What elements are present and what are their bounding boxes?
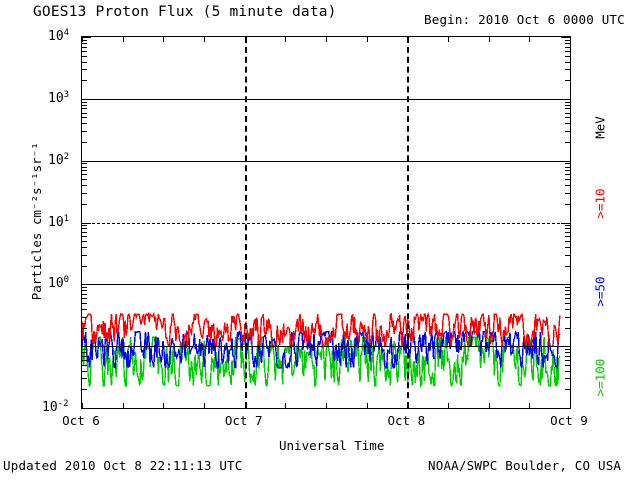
y-axis-tick bbox=[565, 47, 570, 48]
y-axis-tick bbox=[565, 303, 570, 304]
y-axis-tick bbox=[82, 287, 87, 288]
y-axis-tick bbox=[82, 204, 87, 205]
y-axis-tick bbox=[82, 294, 87, 295]
y-axis-tick bbox=[565, 167, 570, 168]
y-axis-tick bbox=[565, 352, 570, 353]
y-axis-tick bbox=[561, 99, 570, 100]
y-axis-tick bbox=[565, 356, 570, 357]
y-axis-tick bbox=[82, 113, 87, 114]
y-axis-tick bbox=[82, 142, 87, 143]
x-tick-label: Oct 7 bbox=[225, 415, 263, 428]
y-axis-tick bbox=[565, 174, 570, 175]
y-axis-tick bbox=[565, 142, 570, 143]
y-axis-tick bbox=[565, 290, 570, 291]
gridline-solid bbox=[82, 346, 570, 347]
y-axis-tick bbox=[561, 408, 570, 409]
y-axis-tick bbox=[561, 346, 570, 347]
x-axis-tick bbox=[163, 37, 164, 42]
updated-timestamp: Updated 2010 Oct 8 22:11:13 UTC bbox=[3, 460, 243, 473]
y-axis-tick bbox=[82, 225, 87, 226]
y-axis-tick bbox=[561, 161, 570, 162]
y-axis-tick bbox=[565, 298, 570, 299]
y-axis-tick bbox=[82, 43, 87, 44]
y-axis-tick bbox=[82, 408, 91, 409]
y-axis-tick bbox=[565, 163, 570, 164]
y-axis-tick bbox=[82, 170, 87, 171]
y-axis-tick bbox=[565, 105, 570, 106]
y-axis-tick bbox=[82, 69, 87, 70]
x-axis-tick bbox=[285, 37, 286, 42]
y-axis-tick bbox=[565, 69, 570, 70]
y-axis-tick bbox=[565, 349, 570, 350]
y-axis-tick bbox=[565, 365, 570, 366]
y-axis-tick bbox=[565, 241, 570, 242]
x-axis-tick bbox=[367, 403, 368, 408]
x-axis-tick bbox=[326, 37, 327, 42]
y-axis-tick bbox=[565, 232, 570, 233]
x-axis-label: Universal Time bbox=[279, 440, 384, 453]
x-tick-label: Oct 8 bbox=[388, 415, 426, 428]
y-axis-tick bbox=[82, 51, 87, 52]
y-axis-tick bbox=[565, 43, 570, 44]
x-tick-label: Oct 6 bbox=[62, 415, 100, 428]
y-axis-tick bbox=[565, 309, 570, 310]
y-axis-tick bbox=[565, 56, 570, 57]
y-axis-tick bbox=[82, 378, 87, 379]
x-axis-tick bbox=[204, 37, 205, 42]
y-axis-tick bbox=[82, 161, 91, 162]
y-axis-tick bbox=[565, 204, 570, 205]
x-axis-tick bbox=[82, 37, 83, 42]
x-axis-tick bbox=[448, 403, 449, 408]
legend-item-100mev: >=100 bbox=[593, 338, 608, 418]
x-axis-tick bbox=[204, 403, 205, 408]
y-axis-tick bbox=[82, 360, 87, 361]
y-axis-tick bbox=[82, 236, 87, 237]
y-axis-tick bbox=[82, 232, 87, 233]
y-axis-tick bbox=[565, 255, 570, 256]
y-axis-tick bbox=[565, 108, 570, 109]
y-axis-tick bbox=[82, 317, 87, 318]
y-axis-tick bbox=[82, 223, 91, 224]
y-axis-tick bbox=[82, 328, 87, 329]
y-axis-tick bbox=[82, 47, 87, 48]
y-axis-tick bbox=[565, 228, 570, 229]
y-axis-label: Particles cm⁻²s⁻¹sr⁻¹ bbox=[31, 121, 44, 321]
y-axis-tick bbox=[82, 108, 87, 109]
y-axis-tick bbox=[82, 255, 87, 256]
x-axis-tick bbox=[448, 37, 449, 42]
x-axis-tick bbox=[529, 37, 530, 42]
y-axis-tick bbox=[82, 174, 87, 175]
plot-area bbox=[81, 36, 571, 409]
x-axis-tick bbox=[326, 403, 327, 408]
y-axis-tick bbox=[565, 287, 570, 288]
y-axis-tick bbox=[82, 105, 87, 106]
y-axis-tick bbox=[82, 389, 87, 390]
y-axis-tick bbox=[82, 303, 87, 304]
y-axis-tick bbox=[82, 241, 87, 242]
x-tick-label: Oct 9 bbox=[550, 415, 588, 428]
y-axis-tick bbox=[82, 228, 87, 229]
y-axis-tick bbox=[565, 378, 570, 379]
y-axis-tick bbox=[82, 365, 87, 366]
gridline-solid bbox=[82, 284, 570, 285]
y-axis-tick bbox=[82, 99, 91, 100]
legend-unit-label: MeV bbox=[593, 88, 608, 168]
y-axis-tick bbox=[82, 371, 87, 372]
begin-time-label: Begin: 2010 Oct 6 0000 UTC bbox=[424, 14, 625, 27]
source-label: NOAA/SWPC Boulder, CO USA bbox=[428, 460, 621, 473]
y-axis-tick bbox=[565, 131, 570, 132]
y-axis-tick bbox=[82, 179, 87, 180]
x-axis-tick bbox=[123, 37, 124, 42]
x-axis-tick bbox=[570, 37, 571, 42]
y-axis-tick bbox=[565, 170, 570, 171]
y-axis-tick bbox=[82, 266, 87, 267]
y-axis-tick bbox=[561, 37, 570, 38]
x-axis-tick bbox=[489, 37, 490, 42]
y-axis-tick bbox=[82, 123, 87, 124]
y-axis-tick bbox=[82, 309, 87, 310]
y-axis-tick bbox=[565, 266, 570, 267]
x-axis-tick bbox=[245, 37, 246, 42]
y-axis-tick bbox=[565, 179, 570, 180]
y-axis-tick bbox=[82, 37, 91, 38]
y-axis-tick bbox=[82, 80, 87, 81]
y-axis-tick bbox=[561, 223, 570, 224]
day-boundary-line bbox=[407, 37, 409, 408]
y-axis-tick bbox=[565, 80, 570, 81]
y-axis-tick bbox=[565, 102, 570, 103]
y-axis-tick bbox=[82, 247, 87, 248]
x-axis-tick bbox=[489, 403, 490, 408]
gridline-solid bbox=[82, 161, 570, 162]
x-axis-tick bbox=[407, 403, 408, 408]
y-axis-tick bbox=[565, 294, 570, 295]
chart-title: GOES13 Proton Flux (5 minute data) bbox=[33, 5, 337, 20]
y-axis-tick bbox=[82, 102, 87, 103]
y-axis-tick bbox=[565, 328, 570, 329]
y-axis-tick bbox=[565, 51, 570, 52]
gridline-solid bbox=[82, 99, 570, 100]
x-axis-tick bbox=[529, 403, 530, 408]
y-axis-tick bbox=[82, 193, 87, 194]
y-axis-tick bbox=[565, 317, 570, 318]
x-axis-tick bbox=[123, 403, 124, 408]
y-axis-tick bbox=[82, 117, 87, 118]
y-axis-tick bbox=[565, 236, 570, 237]
y-axis-tick bbox=[82, 346, 91, 347]
y-axis-tick bbox=[565, 113, 570, 114]
x-axis-tick bbox=[570, 403, 571, 408]
y-axis-tick bbox=[565, 117, 570, 118]
y-axis-tick bbox=[82, 349, 87, 350]
y-axis-tick bbox=[82, 62, 87, 63]
x-axis-tick bbox=[82, 403, 83, 408]
y-axis-tick bbox=[565, 371, 570, 372]
y-axis-tick bbox=[82, 284, 91, 285]
y-axis-tick bbox=[565, 247, 570, 248]
x-axis-tick bbox=[367, 37, 368, 42]
x-axis-tick bbox=[407, 37, 408, 42]
day-boundary-line bbox=[245, 37, 247, 408]
x-axis-tick bbox=[163, 403, 164, 408]
y-axis-tick bbox=[82, 163, 87, 164]
y-axis-tick bbox=[565, 62, 570, 63]
y-axis-tick bbox=[565, 360, 570, 361]
y-axis-tick bbox=[82, 356, 87, 357]
x-axis-tick bbox=[245, 403, 246, 408]
y-axis-tick bbox=[565, 389, 570, 390]
y-axis-tick bbox=[82, 290, 87, 291]
y-axis-tick bbox=[565, 123, 570, 124]
x-axis-tick bbox=[285, 403, 286, 408]
y-axis-tick bbox=[82, 352, 87, 353]
gridline-dashed bbox=[82, 223, 570, 224]
y-axis-tick bbox=[82, 131, 87, 132]
legend-item-10mev: >=10 bbox=[593, 164, 608, 244]
y-axis-tick bbox=[82, 167, 87, 168]
y-axis-tick bbox=[565, 225, 570, 226]
y-axis-tick bbox=[82, 298, 87, 299]
y-axis-tick bbox=[565, 185, 570, 186]
legend-item-50mev: >=50 bbox=[593, 252, 608, 332]
y-axis-tick bbox=[82, 185, 87, 186]
y-axis-tick bbox=[565, 193, 570, 194]
y-axis-tick bbox=[82, 56, 87, 57]
y-axis-tick bbox=[561, 284, 570, 285]
